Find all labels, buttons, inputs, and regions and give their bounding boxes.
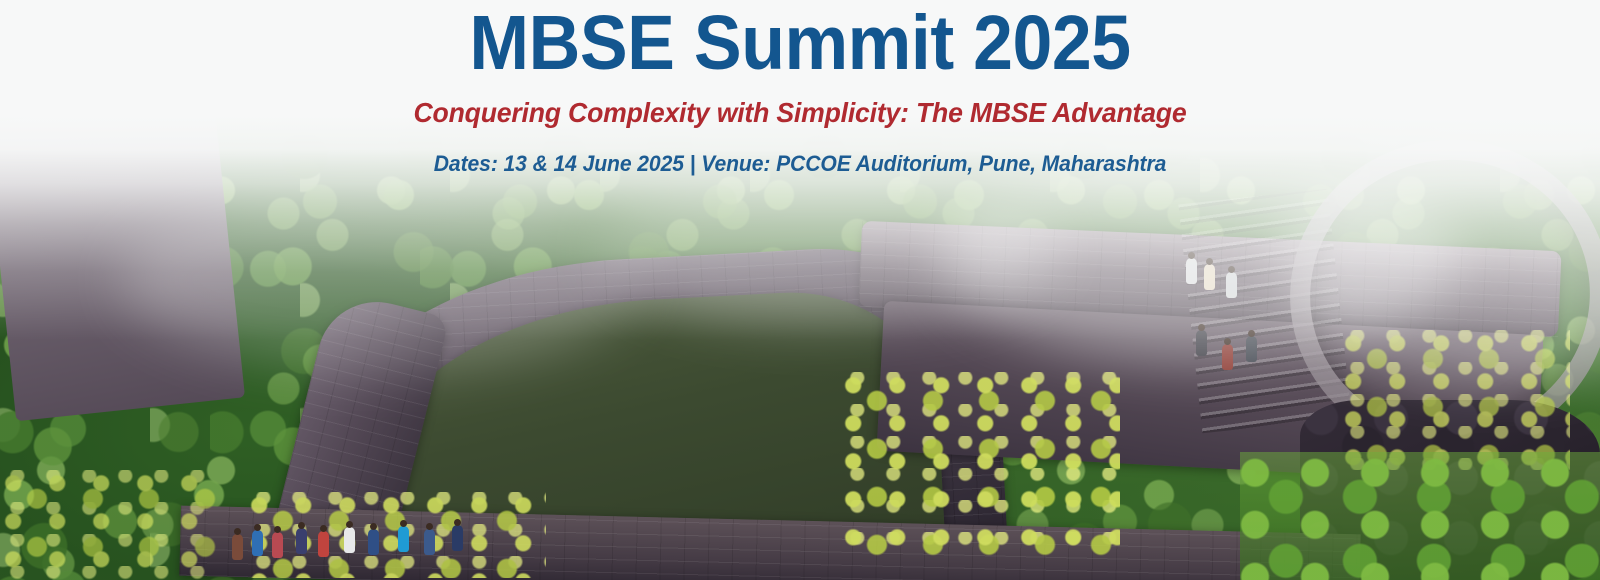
banner-subtitle: Conquering Complexity with Simplicity: T…	[40, 97, 1560, 129]
trekker-figure	[296, 528, 307, 554]
trekker-figure	[368, 529, 379, 555]
trekker-figure	[232, 534, 243, 560]
trekker-figure	[344, 527, 355, 553]
mist-veil	[600, 176, 1060, 326]
trekker-figure	[424, 529, 435, 555]
page-title: MBSE Summit 2025	[56, 0, 1544, 83]
trekker-figure	[452, 525, 463, 551]
banner-dateline: Dates: 13 & 14 June 2025 | Venue: PCCOE …	[32, 151, 1568, 177]
moss-foreground	[1240, 452, 1600, 580]
yellow-flowering-shrub-left	[246, 492, 546, 578]
event-banner: MBSE Summit 2025 Conquering Complexity w…	[0, 0, 1600, 580]
trekker-figure	[252, 530, 263, 556]
mist-veil	[120, 190, 640, 370]
banner-text-block: MBSE Summit 2025 Conquering Complexity w…	[0, 0, 1600, 177]
trekker-figure	[272, 532, 283, 558]
trekker-figure	[318, 531, 329, 557]
yellow-flowering-shrub-center	[840, 372, 1120, 562]
trekker-figure	[398, 526, 409, 552]
yellow-flowering-shrub-edge	[0, 470, 220, 580]
